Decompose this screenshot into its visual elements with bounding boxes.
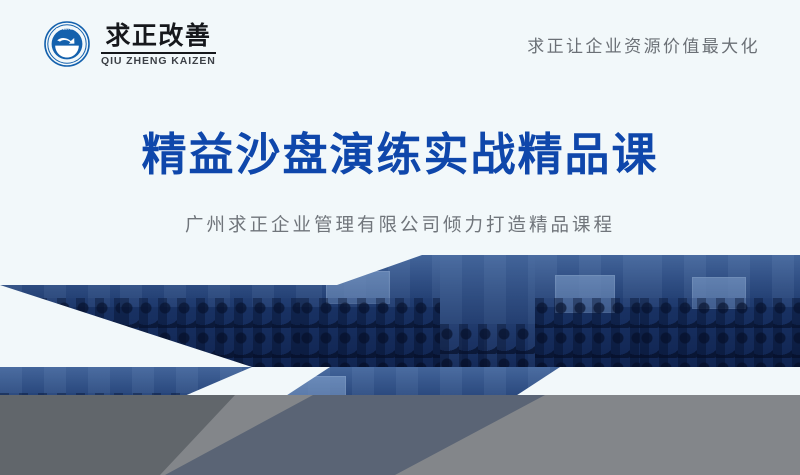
brand-logo[interactable]: ENTERPRISE 求正改善 QIU ZHENG KAIZEN xyxy=(44,21,216,67)
header-bar: ENTERPRISE 求正改善 QIU ZHENG KAIZEN 求正让企业资源… xyxy=(0,0,800,88)
brand-divider xyxy=(101,52,216,54)
hero-text-block: 精益沙盘演练实战精品课 广州求正企业管理有限公司倾力打造精品课程 xyxy=(0,128,800,237)
photo-seated-audience-raising-hands xyxy=(120,255,300,367)
upper-photo-band xyxy=(0,255,800,367)
page-title: 精益沙盘演练实战精品课 xyxy=(0,128,800,182)
poster-canvas: ENTERPRISE 求正改善 QIU ZHENG KAIZEN 求正让企业资源… xyxy=(0,0,800,475)
brand-name-cn: 求正改善 xyxy=(105,22,211,50)
footer-gray-bar xyxy=(0,395,800,475)
photo-conference-hall-crowd xyxy=(300,255,440,367)
brand-wordmark: 求正改善 QIU ZHENG KAIZEN xyxy=(101,22,216,67)
photo-lecture-room-seats xyxy=(640,255,800,367)
photo-factory-floor-workers xyxy=(0,255,120,367)
circular-emblem-swoosh-icon: ENTERPRISE xyxy=(44,21,90,67)
svg-text:ENTERPRISE: ENTERPRISE xyxy=(56,27,78,31)
photo-speaker-at-podium xyxy=(440,255,535,367)
header-tagline: 求正让企业资源价值最大化 xyxy=(527,32,760,57)
brand-name-en: QIU ZHENG KAIZEN xyxy=(101,56,216,67)
photo-classroom-presentation xyxy=(535,255,640,367)
page-subtitle: 广州求正企业管理有限公司倾力打造精品课程 xyxy=(0,211,800,237)
